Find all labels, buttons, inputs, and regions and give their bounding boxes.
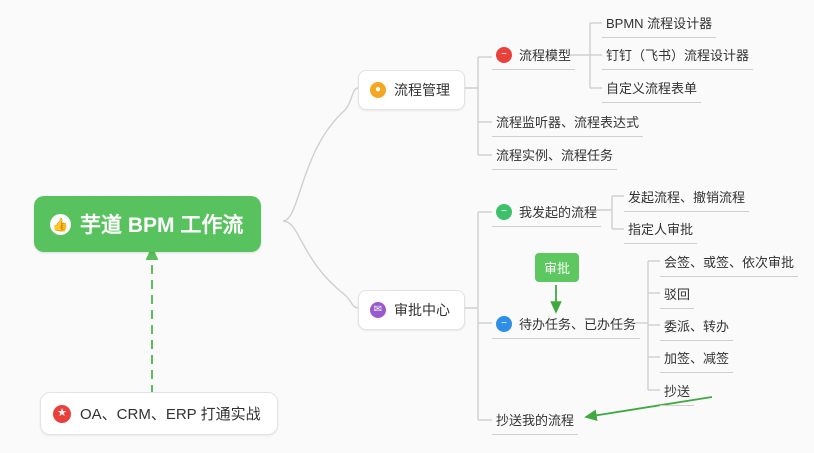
node-dingtalk-designer[interactable]: 钉钉（飞书）流程设计器 (602, 42, 753, 70)
leaf-row: 流程实例、流程任务 (492, 142, 617, 170)
leaf-label: 流程监听器、流程表达式 (496, 112, 639, 131)
node-start-cancel-process[interactable]: 发起流程、撤销流程 (624, 184, 749, 212)
leaf-row: 发起流程、撤销流程 (624, 184, 749, 212)
branch-node-approval-center[interactable]: ✉ 审批中心 (358, 290, 465, 330)
leaf-row: 加签、减签 (660, 345, 733, 373)
leaf-label: 抄送 (664, 381, 690, 400)
node-add-remove-sign[interactable]: 加签、减签 (660, 345, 733, 373)
branch-label: 流程管理 (394, 80, 450, 100)
node-custom-form[interactable]: 自定义流程表单 (602, 75, 701, 103)
node-reject[interactable]: 驳回 (660, 281, 694, 309)
node-bpmn-designer[interactable]: BPMN 流程设计器 (602, 10, 716, 38)
node-cc-to-me[interactable]: 抄送我的流程 (492, 407, 578, 435)
note-integration-practice[interactable]: ★ OA、CRM、ERP 打通实战 (40, 392, 278, 435)
node-countersign[interactable]: 会签、或签、依次审批 (660, 249, 798, 277)
location-pin-icon: ● (370, 82, 386, 98)
tag-approval[interactable]: 审批 (535, 253, 579, 282)
minus-circle-icon: − (496, 204, 512, 220)
leaf-row: 钉钉（飞书）流程设计器 (602, 42, 753, 70)
leaf-label: 我发起的流程 (519, 202, 597, 221)
leaf-label: 待办任务、已办任务 (519, 314, 636, 333)
node-process-model[interactable]: − 流程模型 (492, 42, 575, 70)
leaf-row: − 待办任务、已办任务 (492, 311, 640, 339)
leaf-label: 指定人审批 (628, 219, 693, 238)
leaf-row: 流程监听器、流程表达式 (492, 109, 643, 137)
leaf-row: 抄送 (660, 378, 694, 406)
leaf-label: 抄送我的流程 (496, 410, 574, 429)
node-delegate-transfer[interactable]: 委派、转办 (660, 313, 733, 341)
minus-circle-icon: − (496, 316, 512, 332)
star-circle-icon: ★ (53, 405, 71, 423)
leaf-row: − 我发起的流程 (492, 199, 601, 227)
leaf-row: 会签、或签、依次审批 (660, 249, 798, 277)
minus-circle-icon: − (496, 47, 512, 63)
node-cc[interactable]: 抄送 (660, 378, 694, 406)
leaf-label: 流程实例、流程任务 (496, 145, 613, 164)
root-node[interactable]: 👍 芋道 BPM 工作流 (34, 196, 261, 252)
leaf-row: 指定人审批 (624, 216, 697, 244)
leaf-label: 委派、转办 (664, 316, 729, 335)
leaf-label: 会签、或签、依次审批 (664, 252, 794, 271)
leaf-row: BPMN 流程设计器 (602, 10, 716, 38)
node-instance-task[interactable]: 流程实例、流程任务 (492, 142, 617, 170)
leaf-row: 抄送我的流程 (492, 407, 578, 435)
tag-label: 审批 (544, 261, 570, 276)
leaf-row: 驳回 (660, 281, 694, 309)
thumbs-up-icon: 👍 (50, 214, 71, 235)
leaf-label: 自定义流程表单 (606, 78, 697, 97)
node-listener-expression[interactable]: 流程监听器、流程表达式 (492, 109, 643, 137)
mindmap-canvas: 👍 芋道 BPM 工作流 ● 流程管理 − 流程模型 BPMN 流程设计器 钉钉… (0, 0, 814, 453)
node-my-initiated[interactable]: − 我发起的流程 (492, 199, 601, 227)
leaf-label: 驳回 (664, 284, 690, 303)
leaf-label: 钉钉（飞书）流程设计器 (606, 45, 749, 64)
branch-label: 审批中心 (394, 300, 450, 320)
note-label: OA、CRM、ERP 打通实战 (80, 403, 261, 424)
leaf-label: 流程模型 (519, 45, 571, 64)
leaf-label: 加签、减签 (664, 348, 729, 367)
node-todo-done-tasks[interactable]: − 待办任务、已办任务 (492, 311, 640, 339)
leaf-row: − 流程模型 (492, 42, 575, 70)
leaf-row: 委派、转办 (660, 313, 733, 341)
leaf-row: 自定义流程表单 (602, 75, 701, 103)
leaf-label: 发起流程、撤销流程 (628, 187, 745, 206)
node-assign-approver[interactable]: 指定人审批 (624, 216, 697, 244)
leaf-label: BPMN 流程设计器 (606, 13, 712, 32)
branch-node-process-management[interactable]: ● 流程管理 (358, 70, 465, 110)
root-node-label: 芋道 BPM 工作流 (80, 209, 243, 239)
mail-icon: ✉ (370, 302, 386, 318)
